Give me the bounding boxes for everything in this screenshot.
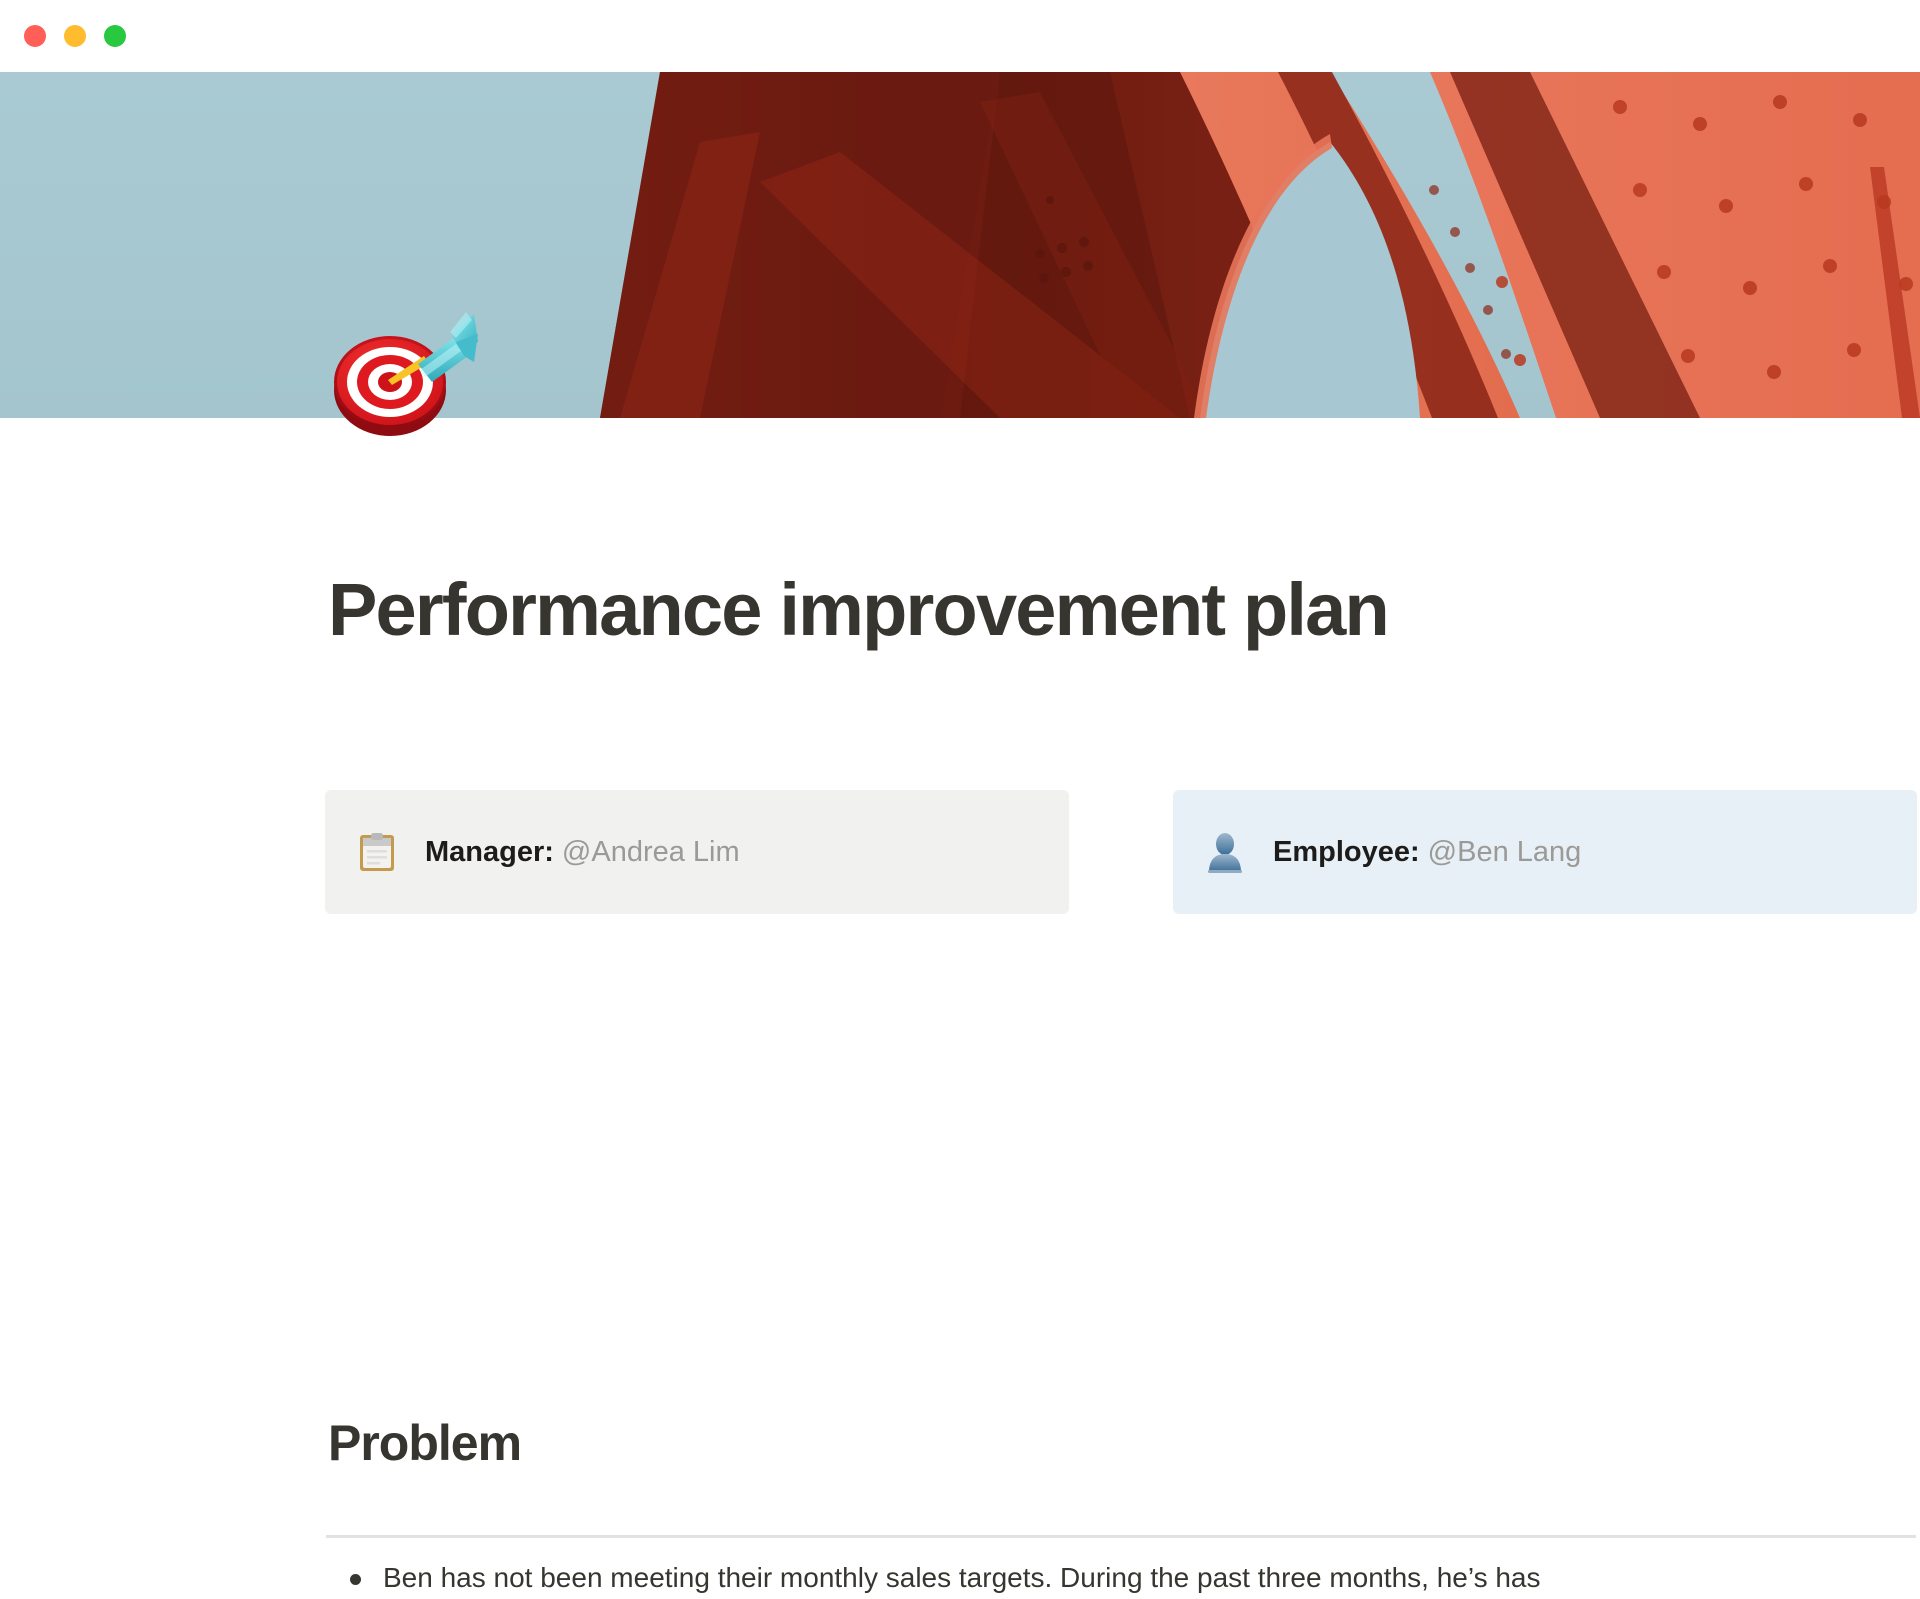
problem-bullet-list: Ben has not been meeting their monthly s… [350,1558,1920,1599]
callout-employee[interactable]: Employee:@Ben Lang [1173,790,1917,914]
minimize-window-button[interactable] [64,25,86,47]
page-cover-image[interactable] [0,72,1920,418]
callout-manager[interactable]: Manager:@Andrea Lim [325,790,1069,914]
list-item-text: Ben has not been meeting their monthly s… [383,1558,1541,1599]
section-heading-problem[interactable]: Problem [328,1418,521,1468]
clipboard-icon [355,830,399,874]
callout-manager-text: Manager:@Andrea Lim [425,838,740,867]
clipboard-emoji [355,830,399,874]
page-title[interactable]: Performance improvement plan [328,573,1388,647]
person-silhouette-emoji [1203,830,1247,874]
traffic-lights [24,25,126,47]
bridge-illustration [0,72,1920,418]
bullet-dot-icon [350,1574,361,1585]
callout-manager-mention[interactable]: @Andrea Lim [562,836,740,868]
list-item[interactable]: Ben has not been meeting their monthly s… [350,1558,1920,1599]
callout-employee-label: Employee: [1273,836,1420,868]
close-window-button[interactable] [24,25,46,47]
callout-row: Manager:@Andrea Lim [325,790,1917,914]
callout-manager-label: Manager: [425,836,554,868]
document-body: Performance improvement plan Ma [0,418,1920,1200]
callout-employee-mention[interactable]: @Ben Lang [1428,836,1582,868]
maximize-window-button[interactable] [104,25,126,47]
person-icon [1203,830,1247,874]
window-titlebar [0,0,1920,72]
section-divider [326,1535,1916,1538]
dart-target-emoji [328,290,478,440]
dart-target-icon[interactable] [328,290,478,440]
callout-employee-text: Employee:@Ben Lang [1273,838,1581,867]
